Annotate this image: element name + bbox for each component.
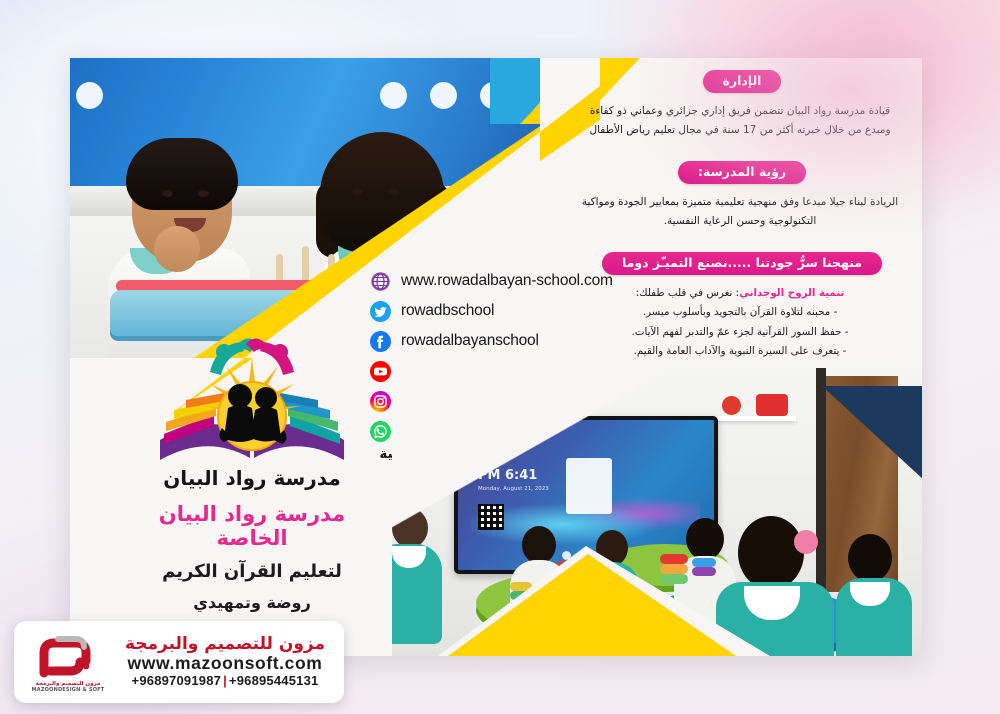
contact-row-twitter[interactable]: rowadbschool bbox=[370, 296, 700, 326]
vision-badge: رؤية المدرسة: bbox=[678, 161, 806, 184]
school-name: مدرسة رواد البيان الخاصة bbox=[122, 502, 382, 550]
navy-corner-triangle bbox=[822, 386, 922, 482]
website-url: www.rowadalbayan-school.com bbox=[401, 272, 613, 290]
school-subtitle-1: لتعليم القرآن الكريم bbox=[122, 561, 382, 582]
contact-row-facebook[interactable]: rowadalbayanschool bbox=[370, 326, 700, 356]
administration-badge: الإدارة bbox=[703, 70, 782, 93]
red-toolbox bbox=[756, 394, 788, 416]
vision-badge-row: رؤية المدرسة: bbox=[562, 161, 922, 184]
twitter-handle: rowadbschool bbox=[401, 302, 494, 320]
flyer-card: الإدارة قيادة مدرسة رواد البيان تتضمن فر… bbox=[70, 58, 922, 656]
footer-phone-separator: | bbox=[221, 673, 229, 688]
facebook-handle: rowadalbayanschool bbox=[401, 332, 539, 350]
photo-diagonal-mask bbox=[392, 358, 692, 528]
vision-text: الريادة لبناء جيلا مبدعا وفق منهجية تعلي… bbox=[580, 193, 900, 232]
school-logo bbox=[152, 336, 352, 464]
logo-caption: مدرسة رواد البيان bbox=[122, 466, 382, 490]
methodology-lead-highlight: تنمية الروح الوجداني bbox=[739, 287, 844, 299]
school-subtitle-2: روضة وتمهيدي bbox=[122, 593, 382, 612]
footer-company-name: مزون للتصميم والبرمجة bbox=[116, 635, 334, 654]
footer-phone-2: +96895445131 bbox=[229, 673, 319, 688]
footer-website[interactable]: www.mazoonsoft.com bbox=[116, 654, 334, 674]
footer-phone-1: +96897091987 bbox=[132, 673, 222, 688]
mazoon-logo: مزون للتصميم والبرمجة MAZOONDESIGN & SOF… bbox=[24, 631, 110, 693]
designer-watermark: مزون للتصميم والبرمجة MAZOONDESIGN & SOF… bbox=[14, 621, 344, 703]
poster-canvas: الإدارة قيادة مدرسة رواد البيان تتضمن فر… bbox=[0, 0, 1000, 714]
twitter-icon bbox=[370, 301, 391, 322]
photo-classroom: 6:41 PM Monday, August 21, 2023 bbox=[392, 358, 922, 656]
brand-block: مدرسة رواد البيان مدرسة رواد البيان الخا… bbox=[122, 336, 382, 612]
mazoon-logo-caption-en: MAZOONDESIGN & SOFT bbox=[26, 687, 110, 693]
administration-badge-row: الإدارة bbox=[562, 70, 922, 93]
globe-icon bbox=[370, 271, 391, 292]
administration-text: قيادة مدرسة رواد البيان تتضمن فريق إداري… bbox=[580, 102, 900, 141]
contact-row-website[interactable]: www.rowadalbayan-school.com bbox=[370, 266, 700, 296]
footer-phones: +96897091987|+96895445131 bbox=[116, 674, 334, 689]
